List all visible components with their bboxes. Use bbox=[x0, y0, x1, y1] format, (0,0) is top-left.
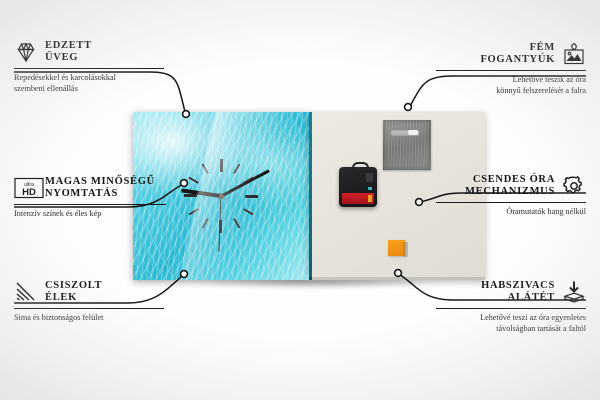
feature-title: EDZETT ÜVEG bbox=[45, 40, 92, 64]
picture-hanger-icon bbox=[562, 42, 586, 66]
feature-title: MAGAS MINŐSÉGŰ NYOMTATÁS bbox=[45, 176, 155, 200]
feature-header: ultra HD MAGAS MINŐSÉGŰ NYOMTATÁS bbox=[14, 176, 166, 200]
feature-foam-pad: HABSZIVACS ALÁTÉT Lehetővé teszi az óra … bbox=[436, 280, 586, 334]
feature-subtitle-line-2: távolságban tartását a faltól bbox=[436, 324, 586, 335]
press-pad-icon bbox=[562, 280, 586, 304]
movement-adjust-knob bbox=[366, 173, 373, 182]
feature-metal-hangers: FÉM FOGANTYÚK Lehetővé teszik az óra kön… bbox=[436, 42, 586, 96]
gear-icon bbox=[562, 174, 586, 198]
hanger-keyhole-slot bbox=[390, 129, 420, 136]
svg-text:HD: HD bbox=[22, 187, 36, 198]
feature-divider bbox=[436, 308, 586, 309]
feature-subtitle-line-1: Sima és biztonságos felület bbox=[14, 313, 164, 324]
feature-subtitle-line-1: Lehetővé teszi az óra egyenletes bbox=[436, 313, 586, 324]
feature-title: HABSZIVACS ALÁTÉT bbox=[481, 280, 555, 304]
feature-divider bbox=[14, 204, 166, 205]
feature-subtitle-line-2: szembeni ellenállás bbox=[14, 84, 164, 95]
infographic-canvas: EDZETT ÜVEG Repedésekkel és karcolásokka… bbox=[0, 0, 600, 400]
metal-hanger-plate bbox=[383, 120, 431, 170]
feature-subtitle-line-2: könnyű felszerelését a falra bbox=[436, 86, 586, 97]
feature-divider bbox=[14, 68, 164, 69]
feature-header: FÉM FOGANTYÚK bbox=[436, 42, 586, 66]
feature-title: CSISZOLT ÉLEK bbox=[45, 280, 102, 304]
clock-hand-cap bbox=[219, 194, 224, 199]
feature-tempered-glass: EDZETT ÜVEG Repedésekkel és karcolásokka… bbox=[14, 40, 164, 94]
product-photo bbox=[133, 112, 485, 280]
feature-title: CSENDES ÓRA MECHANIZMUS bbox=[465, 174, 555, 198]
clock-minute-hand bbox=[220, 169, 269, 197]
diamond-icon bbox=[14, 40, 38, 64]
feature-silent-movement: CSENDES ÓRA MECHANIZMUS Óramutatók hang … bbox=[436, 174, 586, 218]
clock-second-hand bbox=[218, 196, 221, 252]
movement-label-dot bbox=[368, 187, 372, 190]
feature-subtitle-line-1: Lehetővé teszik az óra bbox=[436, 75, 586, 86]
movement-hanger-loop bbox=[352, 162, 369, 172]
quartz-movement-box bbox=[339, 167, 377, 207]
ultra-hd-icon: ultra HD bbox=[14, 176, 38, 200]
feature-header: EDZETT ÜVEG bbox=[14, 40, 164, 64]
leader-endpoint-dot bbox=[405, 104, 412, 111]
polished-edges-icon bbox=[14, 280, 38, 304]
feature-polished-edges: CSISZOLT ÉLEK Sima és biztonságos felüle… bbox=[14, 280, 164, 324]
feature-divider bbox=[436, 70, 586, 71]
clock-side-edge bbox=[309, 112, 312, 280]
feature-divider bbox=[14, 308, 164, 309]
feature-header: CSISZOLT ÉLEK bbox=[14, 280, 164, 304]
foam-spacer-pad bbox=[388, 240, 405, 256]
feature-header: CSENDES ÓRA MECHANIZMUS bbox=[436, 174, 586, 198]
battery bbox=[342, 193, 374, 204]
feature-subtitle-line-1: Intenzív színek és éles kép bbox=[14, 209, 166, 220]
feature-header: HABSZIVACS ALÁTÉT bbox=[436, 280, 586, 304]
feature-subtitle-line-1: Óramutatók hang nélkül bbox=[436, 207, 586, 218]
feature-subtitle-line-1: Repedésekkel és karcolásokkal bbox=[14, 73, 164, 84]
feature-high-quality-print: ultra HD MAGAS MINŐSÉGŰ NYOMTATÁS Intenz… bbox=[14, 176, 166, 220]
feature-title: FÉM FOGANTYÚK bbox=[480, 42, 555, 66]
feature-divider bbox=[436, 202, 586, 203]
